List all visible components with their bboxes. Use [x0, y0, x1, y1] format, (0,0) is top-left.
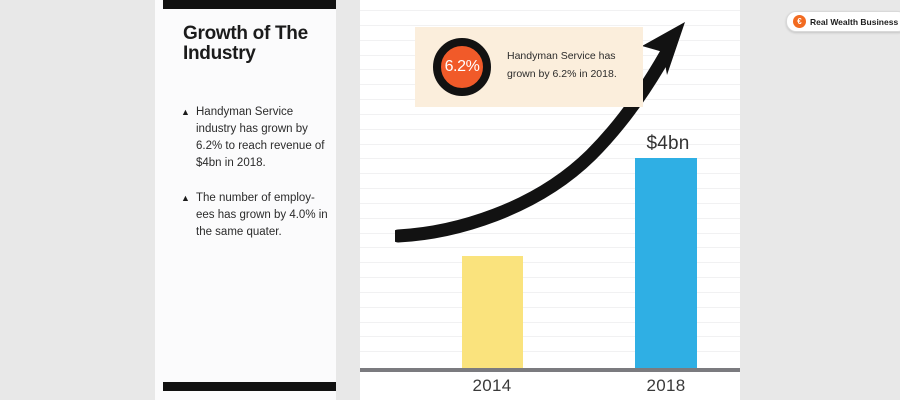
list-item-label: Handyman Service industry has grown by 6…	[196, 104, 333, 172]
gridline	[360, 10, 740, 11]
x-axis-line	[360, 368, 740, 372]
x-axis-tick-2014: 2014	[447, 376, 537, 396]
list-item: ▲ Handyman Service industry has grown by…	[181, 104, 333, 172]
x-axis-tick-2018: 2018	[621, 376, 711, 396]
triangle-bullet-icon: ▲	[181, 105, 190, 120]
watermark-label: Real Wealth Business	[810, 17, 898, 27]
callout-card: 6.2% Handyman Service has grown by 6.2% …	[415, 27, 643, 107]
panel-bottom-rule	[163, 382, 336, 391]
bar-2018	[635, 158, 697, 368]
bar-2014	[462, 256, 523, 368]
info-panel: Growth of The Industry ▲ Handyman Servic…	[155, 0, 336, 400]
bar-2018-value-label: $4bn	[628, 133, 708, 155]
bar-chart: $4bn 2014 2018 6.2% Handyman Service has…	[360, 0, 740, 400]
triangle-bullet-icon: ▲	[181, 191, 190, 206]
callout-text: Handyman Service has grown by 6.2% in 20…	[507, 47, 637, 83]
logo-icon: €	[793, 15, 806, 28]
page-title: Growth of The Industry	[183, 24, 328, 64]
percentage-badge: 6.2%	[433, 38, 491, 96]
list-item: ▲ The number of employ-ees has grown by …	[181, 190, 333, 241]
list-item-label: The number of employ-ees has grown by 4.…	[196, 190, 333, 241]
infographic-canvas: Growth of The Industry ▲ Handyman Servic…	[0, 0, 900, 400]
panel-top-rule	[163, 0, 336, 9]
gridline	[360, 114, 740, 115]
gridline	[360, 25, 740, 26]
gridline	[360, 129, 740, 130]
watermark-badge[interactable]: € Real Wealth Business	[786, 11, 900, 32]
